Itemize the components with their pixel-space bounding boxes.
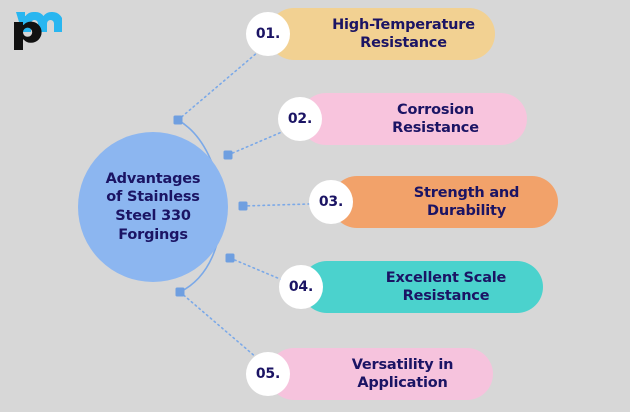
connector-node-2: [224, 151, 233, 160]
item-03-number: 03.: [309, 180, 353, 224]
item-05-label: Versatility in Application: [312, 348, 493, 400]
item-01[interactable]: High-Temperature Resistance 01.: [268, 8, 495, 60]
connector-node-1: [174, 116, 183, 125]
item-04-number: 04.: [279, 265, 323, 309]
connector-node-3: [239, 202, 248, 211]
item-02-label: Corrosion Resistance: [344, 93, 527, 145]
item-05[interactable]: Versatility in Application 05.: [268, 348, 493, 400]
item-02[interactable]: Corrosion Resistance 02.: [300, 93, 527, 145]
brand-logo-icon: [10, 8, 62, 54]
item-05-number: 05.: [246, 352, 290, 396]
item-01-label: High-Temperature Resistance: [312, 8, 495, 60]
item-03[interactable]: Strength and Durability 03.: [331, 176, 558, 228]
item-04-label: Excellent Scale Resistance: [349, 261, 543, 313]
infographic-canvas: Advantages of Stainless Steel 330 Forgin…: [0, 0, 630, 412]
connector-node-5: [176, 288, 185, 297]
brand-logo: [10, 8, 62, 54]
item-04[interactable]: Excellent Scale Resistance 04.: [301, 261, 543, 313]
center-circle-label: Advantages of Stainless Steel 330 Forgin…: [98, 170, 209, 244]
connector-node-4: [226, 254, 235, 263]
item-02-number: 02.: [278, 97, 322, 141]
center-circle: Advantages of Stainless Steel 330 Forgin…: [78, 132, 228, 282]
item-01-number: 01.: [246, 12, 290, 56]
item-03-label: Strength and Durability: [375, 176, 558, 228]
